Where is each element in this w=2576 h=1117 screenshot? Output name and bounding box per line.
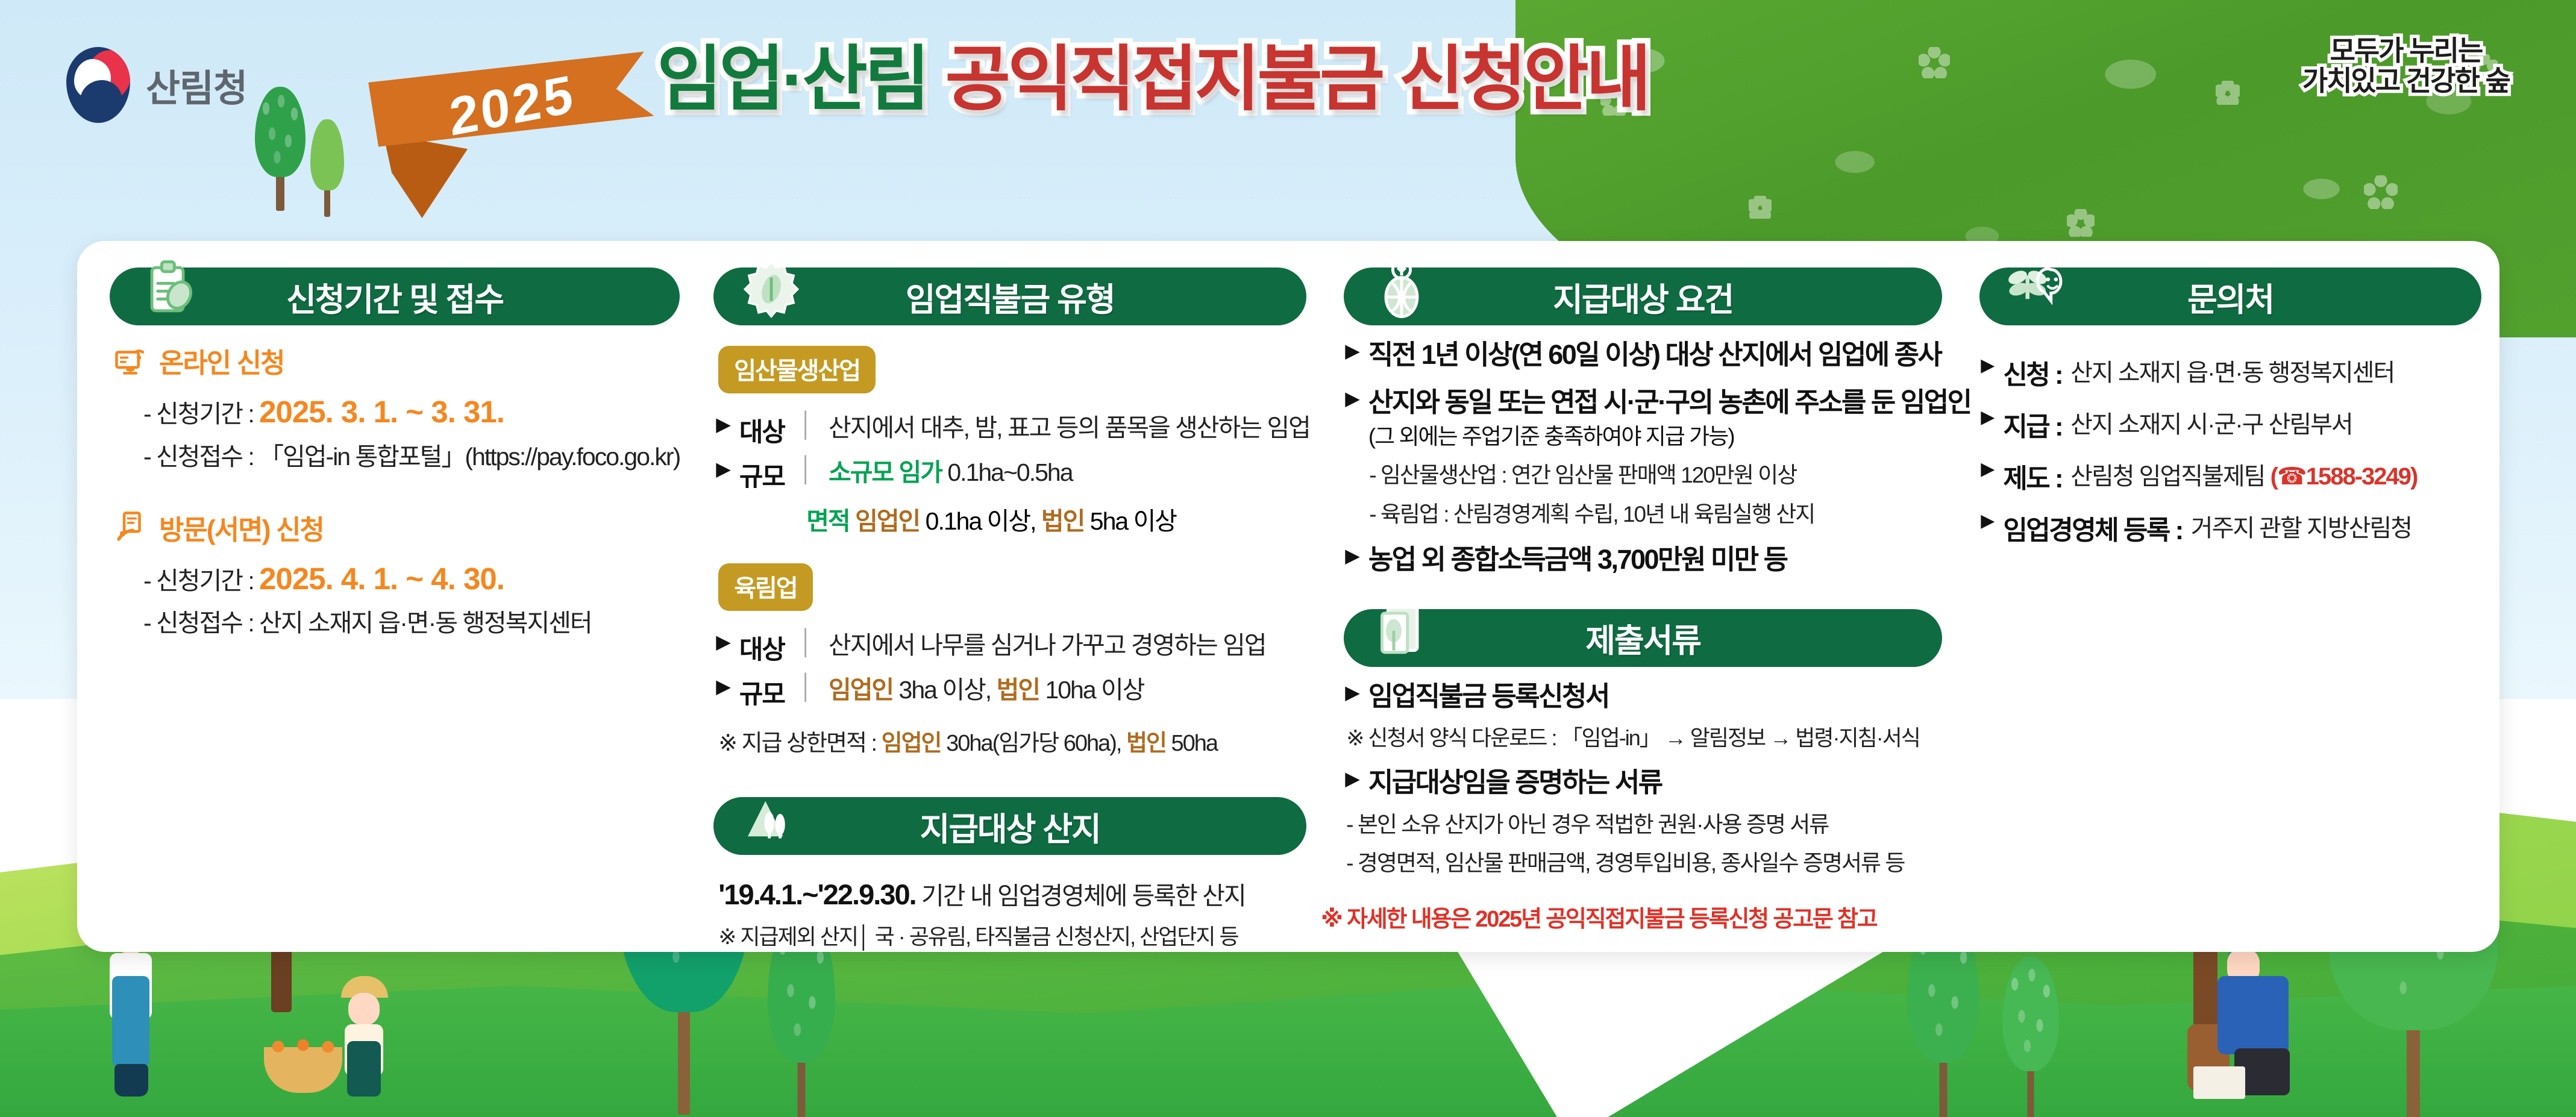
contact-key-payment: 지급 : bbox=[2003, 405, 2062, 443]
cap-corp-value: 50ha bbox=[1171, 731, 1218, 756]
land-period-row: '19.4.1.~'22.9.30. 기간 내 임업경영체에 등록한 산지 bbox=[718, 875, 1306, 912]
hand-document-icon bbox=[113, 510, 148, 545]
document-item-2-dash-1: - 본인 소유 산지가 아닌 경우 적법한 권원·사용 증명 서류 bbox=[1346, 809, 1942, 841]
banner-title: 제출서류 bbox=[1585, 614, 1700, 662]
agency-logo: 산림청 bbox=[66, 47, 247, 123]
visit-period-row: - 신청기간 : 2025. 4. 1. ~ 4. 30. bbox=[143, 555, 680, 602]
cap-prefix: ※ 지급 상한면적 : bbox=[718, 731, 881, 756]
cap-person-value: 30ha(임가당 60ha), bbox=[946, 731, 1121, 756]
eligibility-item-3-text: 농업 외 종합소득금액 3,700만원 미만 등 bbox=[1368, 542, 1787, 578]
banner-documents: 제출서류 bbox=[1344, 609, 1942, 667]
g2-target-row: ▶ 대상 │ 산지에서 나무를 심거나 가꾸고 경영하는 임업 bbox=[716, 629, 1306, 666]
g2-scale-row: ▶ 규모 │ 임업인 3ha 이상, 법인 10ha 이상 bbox=[716, 674, 1306, 711]
eligibility-item-2-text: 산지와 동일 또는 연접 시·군·구의 농촌에 주소를 둔 임업인 bbox=[1368, 387, 1971, 418]
g1-area-label: 면적 bbox=[806, 507, 849, 535]
g2-scale-corp: 법인 bbox=[997, 676, 1039, 704]
triangle-bullet-icon: ▶ bbox=[1345, 679, 1360, 706]
contact-phone[interactable]: (☎1588-3249) bbox=[2270, 463, 2418, 490]
visit-apply-label: 방문(서면) 신청 bbox=[159, 508, 324, 547]
eligibility-dash-2: - 육림업 : 산림경영계획 수립, 10년 내 육림실행 산지 bbox=[1369, 499, 1942, 531]
tagline-line-1: 모두가 누리는 bbox=[2302, 36, 2510, 66]
decorative-tree bbox=[309, 120, 346, 217]
contact-value-payment: 산지 소재지 시·군·구 산림부서 bbox=[2070, 405, 2352, 440]
decorative-tree bbox=[2001, 940, 2061, 1117]
document-item-2: ▶ 지급대상임을 증명하는 서류 bbox=[1345, 765, 1942, 801]
banner-types: 임업직불금 유형 bbox=[713, 268, 1306, 325]
contact-key-system: 제도 : bbox=[2003, 457, 2062, 495]
column-application: 신청기간 및 접수 온라인 신청 - 신청기간 : 2025. 3. 1. ~ … bbox=[77, 241, 695, 952]
banner-title: 지급대상 요건 bbox=[1553, 273, 1733, 321]
eligibility-item-2-subtext: (그 외에는 주업기준 충족하여야 지급 가능) bbox=[1368, 422, 1971, 451]
online-period-row: - 신청기간 : 2025. 3. 1. ~ 3. 31. bbox=[143, 389, 680, 436]
online-apply-label: 온라인 신청 bbox=[159, 341, 284, 380]
sprout-smile-icon bbox=[2006, 258, 2069, 321]
land-period-rest: 기간 내 임업경영체에 등록한 산지 bbox=[916, 882, 1246, 910]
tagline: 모두가 누리는 가치있고 건강한 숲 bbox=[2302, 36, 2510, 96]
contact-row-registration: ▶ 임업경영체 등록 : 거주지 관할 지방산림청 bbox=[1981, 508, 2481, 547]
g1-area-person: 임업인 bbox=[855, 507, 920, 535]
divider: │ bbox=[799, 411, 814, 439]
document-item-2-dash-2: - 경영면적, 임산물 판매금액, 경영투입비용, 종사일수 증명서류 등 bbox=[1346, 848, 1942, 880]
banner-title: 문의처 bbox=[2187, 273, 2274, 321]
tagline-line-2: 가치있고 건강한 숲 bbox=[2302, 66, 2510, 96]
triangle-bullet-icon: ▶ bbox=[1345, 542, 1360, 569]
decorative-tree bbox=[253, 90, 307, 211]
g1-target-label: 대상 bbox=[739, 411, 785, 449]
triangle-bullet-icon: ▶ bbox=[716, 456, 731, 482]
cap-area-note: ※ 지급 상한면적 : 임업인 30ha(임가당 60ha), 법인 50ha bbox=[718, 728, 1306, 760]
divider: │ bbox=[799, 674, 814, 701]
banner-title: 신청기간 및 접수 bbox=[286, 273, 503, 321]
land-exclude-note: ※ 지급제외 산지│ 국 · 공유림, 타직불금 신청산지, 산업단지 등 bbox=[718, 921, 1306, 952]
divider: │ bbox=[799, 629, 814, 656]
document-tree-icon bbox=[1370, 599, 1433, 662]
triangle-bullet-icon: ▶ bbox=[716, 411, 731, 437]
land-period-value: '19.4.1.~'22.9.30. bbox=[718, 878, 915, 910]
g2-target-label: 대상 bbox=[739, 629, 785, 666]
type-tag-silviculture: 육림업 bbox=[718, 563, 812, 611]
eligibility-item-3: ▶ 농업 외 종합소득금액 3,700만원 미만 등 bbox=[1345, 542, 1942, 578]
document-item-2-text: 지급대상임을 증명하는 서류 bbox=[1368, 765, 1662, 801]
gear-leaf-icon bbox=[740, 258, 803, 321]
divider: │ bbox=[799, 456, 814, 483]
g1-area-corp: 법인 bbox=[1041, 507, 1084, 535]
document-item-1-note: ※ 신청서 양식 다운로드 : 「임업-in」 → 알림정보 → 법령·지침·서… bbox=[1346, 722, 1942, 753]
eligibility-item-1-text: 직전 1년 이상(연 60일 이상) 대상 산지에서 임업에 종사 bbox=[1368, 337, 1941, 373]
g1-scale-green: 소규모 임가 bbox=[829, 458, 942, 486]
g1-scale-label: 규모 bbox=[739, 456, 785, 493]
g1-area-row: 면적 임업인 0.1ha 이상, 법인 5ha 이상 bbox=[806, 501, 1306, 537]
contact-row-payment: ▶ 지급 : 산지 소재지 시·군·구 산림부서 bbox=[1981, 405, 2481, 443]
eligibility-item-1: ▶ 직전 1년 이상(연 60일 이상) 대상 산지에서 임업에 종사 bbox=[1345, 337, 1942, 373]
g1-area-person-value: 0.1ha 이상, bbox=[926, 507, 1036, 535]
content-card: 신청기간 및 접수 온라인 신청 - 신청기간 : 2025. 3. 1. ~ … bbox=[77, 241, 2499, 952]
g2-scale-label: 규모 bbox=[739, 674, 785, 711]
banner-contact: 문의처 bbox=[1979, 268, 2481, 325]
triangle-bullet-icon: ▶ bbox=[1981, 508, 1995, 534]
triangle-bullet-icon: ▶ bbox=[716, 674, 731, 699]
column-contact: 문의처 ▶ 신청 : 산지 소재지 읍·면·동 행정복지센터 ▶ 지급 : 산지… bbox=[1958, 241, 2499, 952]
g1-scale-row: ▶ 규모 │ 소규모 임가 0.1ha~0.5ha bbox=[716, 456, 1306, 493]
type-tag-forest-products: 임산물생산업 bbox=[718, 346, 876, 393]
column-types: 임업직불금 유형 임산물생산업 ▶ 대상 │ 산지에서 대추, 밤, 표고 등의… bbox=[695, 241, 1322, 952]
contact-key-registration: 임업경영체 등록 : bbox=[2003, 508, 2182, 547]
g2-target-value: 산지에서 나무를 심거나 가꾸고 경영하는 임업 bbox=[829, 629, 1266, 662]
g2-scale-person: 임업인 bbox=[829, 676, 893, 704]
contact-team-name: 산림청 임업직불제팀 bbox=[2070, 463, 2270, 490]
contact-value-apply: 산지 소재지 읍·면·동 행정복지센터 bbox=[2070, 353, 2394, 388]
g1-target-value: 산지에서 대추, 밤, 표고 등의 품목을 생산하는 임업 bbox=[829, 411, 1310, 445]
banner-target-land: 지급대상 산지 bbox=[713, 797, 1306, 855]
poster-title: 임업·산림 공익직접지불금 신청안내 bbox=[657, 42, 1649, 117]
eligibility-dash-1: - 임산물생산업 : 연간 임산물 판매액 120만원 이상 bbox=[1369, 460, 1942, 492]
banner-title: 지급대상 산지 bbox=[920, 803, 1100, 850]
g1-scale-num: 0.1ha~0.5ha bbox=[947, 458, 1072, 486]
contact-row-system: ▶ 제도 : 산림청 임업직불제팀 (☎1588-3249) bbox=[1981, 457, 2481, 495]
online-period-label: - 신청기간 : bbox=[143, 400, 259, 428]
warning-notice: ※ 자세한 내용은 2025년 공익직접지불금 등록신청 공고문 참고 bbox=[1321, 900, 1876, 933]
contact-value-registration: 거주지 관할 지방산림청 bbox=[2191, 508, 2411, 543]
online-period-value: 2025. 3. 1. ~ 3. 31. bbox=[259, 395, 504, 429]
visit-period-value: 2025. 4. 1. ~ 4. 30. bbox=[259, 562, 504, 596]
g1-area-corp-value: 5ha 이상 bbox=[1090, 507, 1176, 535]
monitor-wifi-icon bbox=[113, 343, 148, 378]
contact-row-apply: ▶ 신청 : 산지 소재지 읍·면·동 행정복지센터 bbox=[1981, 353, 2481, 392]
g1-scale-value: 소규모 임가 0.1ha~0.5ha bbox=[829, 456, 1073, 489]
banner-title: 임업직불금 유형 bbox=[906, 273, 1115, 321]
triangle-bullet-icon: ▶ bbox=[1345, 765, 1360, 792]
contact-value-system: 산림청 임업직불제팀 (☎1588-3249) bbox=[2070, 457, 2417, 492]
visit-apply-heading: 방문(서면) 신청 bbox=[113, 508, 680, 547]
triangle-bullet-icon: ▶ bbox=[1981, 353, 1995, 378]
clipboard-leaf-icon bbox=[136, 258, 199, 321]
banner-application: 신청기간 및 접수 bbox=[110, 268, 680, 325]
globe-sprout-icon bbox=[1370, 258, 1433, 321]
g1-target-row: ▶ 대상 │ 산지에서 대추, 밤, 표고 등의 품목을 생산하는 임업 bbox=[716, 411, 1306, 449]
visit-period-label: - 신청기간 : bbox=[143, 567, 259, 595]
triangle-bullet-icon: ▶ bbox=[1345, 385, 1360, 411]
title-part-1: 임업·산림 bbox=[657, 42, 927, 117]
g2-scale-value: 임업인 3ha 이상, 법인 10ha 이상 bbox=[829, 674, 1144, 707]
visit-receipt: - 신청접수 : 산지 소재지 읍·면·동 행정복지센터 bbox=[143, 604, 680, 642]
g2-scale-person-value: 3ha 이상, bbox=[899, 676, 991, 704]
banner-eligibility: 지급대상 요건 bbox=[1344, 268, 1942, 325]
triangle-bullet-icon: ▶ bbox=[716, 629, 731, 655]
g2-scale-corp-value: 10ha 이상 bbox=[1045, 676, 1144, 704]
document-item-1-text: 임업직불금 등록신청서 bbox=[1368, 679, 1609, 715]
cap-corp: 법인 bbox=[1126, 731, 1166, 756]
cap-person: 임업인 bbox=[882, 731, 941, 756]
online-receipt: - 신청접수 : 「임업-in 통합포털」(https://pay.foco.g… bbox=[143, 438, 680, 475]
document-item-1: ▶ 임업직불금 등록신청서 bbox=[1345, 679, 1942, 715]
triangle-bullet-icon: ▶ bbox=[1981, 457, 1995, 482]
title-part-2: 공익직접지불금 신청안내 bbox=[945, 42, 1649, 117]
mountain-trees-icon bbox=[740, 787, 803, 850]
eligibility-item-2: ▶ 산지와 동일 또는 연접 시·군·구의 농촌에 주소를 둔 임업인 (그 외… bbox=[1345, 385, 1942, 452]
contact-key-apply: 신청 : bbox=[2003, 353, 2062, 392]
online-apply-heading: 온라인 신청 bbox=[113, 341, 680, 380]
korea-government-symbol-icon bbox=[66, 47, 130, 123]
triangle-bullet-icon: ▶ bbox=[1345, 337, 1360, 364]
triangle-bullet-icon: ▶ bbox=[1981, 405, 1995, 430]
agency-name: 산림청 bbox=[146, 58, 247, 112]
column-eligibility: 지급대상 요건 ▶ 직전 1년 이상(연 60일 이상) 대상 산지에서 임업에… bbox=[1322, 241, 1958, 952]
